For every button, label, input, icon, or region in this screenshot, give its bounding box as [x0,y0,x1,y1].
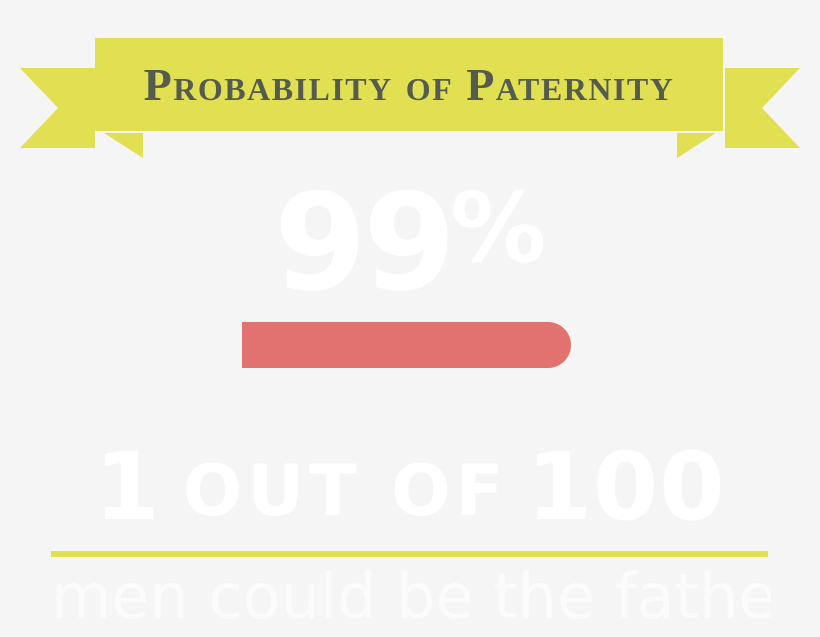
ribbon-left-fold [104,133,143,158]
percent-value: 99 [274,176,452,310]
ratio-numerator: 1 [94,441,160,535]
progress-bar-fill [242,322,571,368]
progress-bar [242,322,574,368]
infographic-canvas: Probability of Paternity 99 % 1 OUT OF 1… [0,0,820,637]
caption-text: men could be the father [51,562,771,631]
ratio-statement: 1 OUT OF 100 [0,438,820,538]
banner-ribbon: Probability of Paternity [0,0,820,175]
ribbon-left-tail [20,68,95,148]
percentage-display: 99 % [0,176,820,306]
page-title: Probability of Paternity [95,38,723,131]
caption-block: men could be the father [51,562,771,637]
ratio-middle-label: OUT OF [183,450,509,526]
percent-sign: % [450,180,546,276]
divider-rule [51,551,768,557]
ribbon-right-tail [725,68,800,148]
ratio-denominator: 100 [526,441,725,535]
ribbon-right-fold [677,133,716,158]
